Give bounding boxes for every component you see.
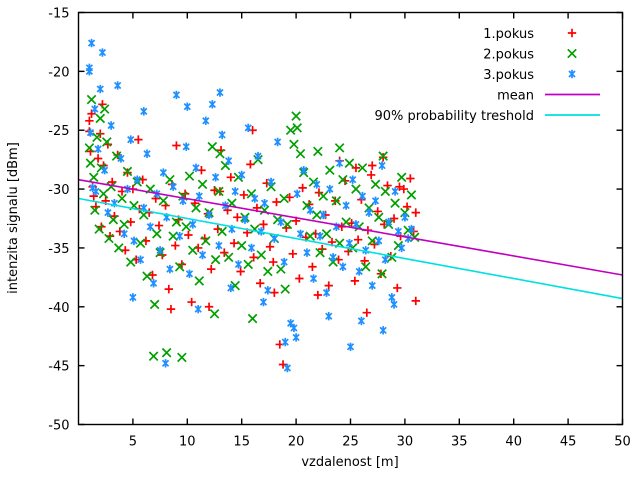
x-tick-label: 40 — [505, 435, 522, 450]
chart-root: -15-20-25-30-35-40-45-50 510152025303540… — [0, 0, 640, 480]
y-axis-title: intenzita signalu [dBm] — [6, 142, 21, 294]
legend-label-0: 1.pokus — [483, 27, 534, 42]
legend-label-4: 90% probability treshold — [374, 109, 534, 124]
y-tick-label: -40 — [48, 301, 69, 316]
legend-label-3: mean — [497, 89, 534, 104]
x-tick-label: 45 — [560, 435, 577, 450]
x-tick-label: 20 — [288, 435, 305, 450]
y-tick-label: -25 — [48, 124, 69, 139]
x-tick-label: 5 — [129, 435, 137, 450]
x-tick-label: 50 — [614, 435, 631, 450]
x-tick-label: 30 — [397, 435, 414, 450]
y-tick-label: -30 — [48, 183, 69, 198]
x-tick-label: 35 — [451, 435, 468, 450]
x-axis-title: vzdalenost [m] — [301, 455, 398, 470]
x-tick-label: 10 — [179, 435, 196, 450]
x-tick-label: 25 — [342, 435, 359, 450]
y-tick-label: -15 — [48, 7, 69, 22]
legend-label-2: 3.pokus — [483, 68, 534, 83]
y-tick-label: -45 — [48, 360, 69, 375]
scatter-chart: -15-20-25-30-35-40-45-50 510152025303540… — [0, 0, 640, 480]
y-tick-label: -20 — [48, 65, 69, 80]
y-tick-label: -50 — [48, 419, 69, 434]
y-tick-label: -35 — [48, 242, 69, 257]
x-tick-label: 15 — [233, 435, 250, 450]
legend-label-1: 2.pokus — [483, 48, 534, 63]
